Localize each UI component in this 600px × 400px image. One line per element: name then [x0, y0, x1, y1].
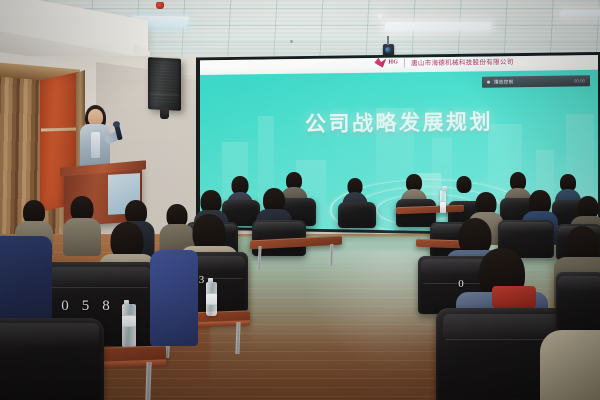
- presenter-lapel: [91, 132, 100, 158]
- ceiling-light-strip-right: [559, 10, 600, 16]
- toolbar-timer: 00:00: [574, 78, 585, 83]
- wall-speaker-icon: [148, 57, 181, 111]
- foreground-person-blue: [150, 250, 198, 346]
- toolbar-status-dot: [487, 81, 490, 84]
- ceiling-light-strip-center: [385, 22, 492, 30]
- audience-person: [66, 196, 98, 250]
- slide-playback-toolbar[interactable]: 播放控制 00:00: [482, 75, 590, 87]
- foreground-person-beige: [540, 330, 600, 400]
- slide-header-band: HG 唐山市海德机械科技股份有限公司: [200, 55, 598, 75]
- company-name-text: 唐山市海德机械科技股份有限公司: [411, 56, 514, 67]
- logo-mark-icon: [374, 58, 386, 68]
- water-bottle[interactable]: [122, 304, 136, 348]
- toolbar-label: 播放控制: [494, 79, 514, 85]
- header-divider: [404, 58, 405, 67]
- camera-lens-icon: [385, 47, 391, 53]
- speaker-mount-bracket: [160, 108, 169, 119]
- conference-room-scene: HG 唐山市海德机械科技股份有限公司 播放控制 00:00 公司战略发展规划: [0, 0, 600, 400]
- water-bottle[interactable]: [206, 282, 217, 316]
- speaker-grille: [151, 60, 178, 102]
- company-logo: HG: [374, 57, 398, 67]
- slide-main-title: 公司战略发展规划: [200, 105, 598, 140]
- fire-sprinkler-icon: [156, 2, 164, 9]
- chair-far[interactable]: [338, 202, 376, 228]
- ceiling-sensor-dot: [290, 40, 293, 43]
- chair-foreground[interactable]: [0, 318, 104, 400]
- chair-foreground-right[interactable]: [556, 272, 600, 332]
- logo-text: HG: [388, 59, 398, 65]
- water-bottle[interactable]: [440, 190, 446, 208]
- red-vest: [492, 286, 536, 308]
- ceiling-light-spot: [378, 14, 382, 18]
